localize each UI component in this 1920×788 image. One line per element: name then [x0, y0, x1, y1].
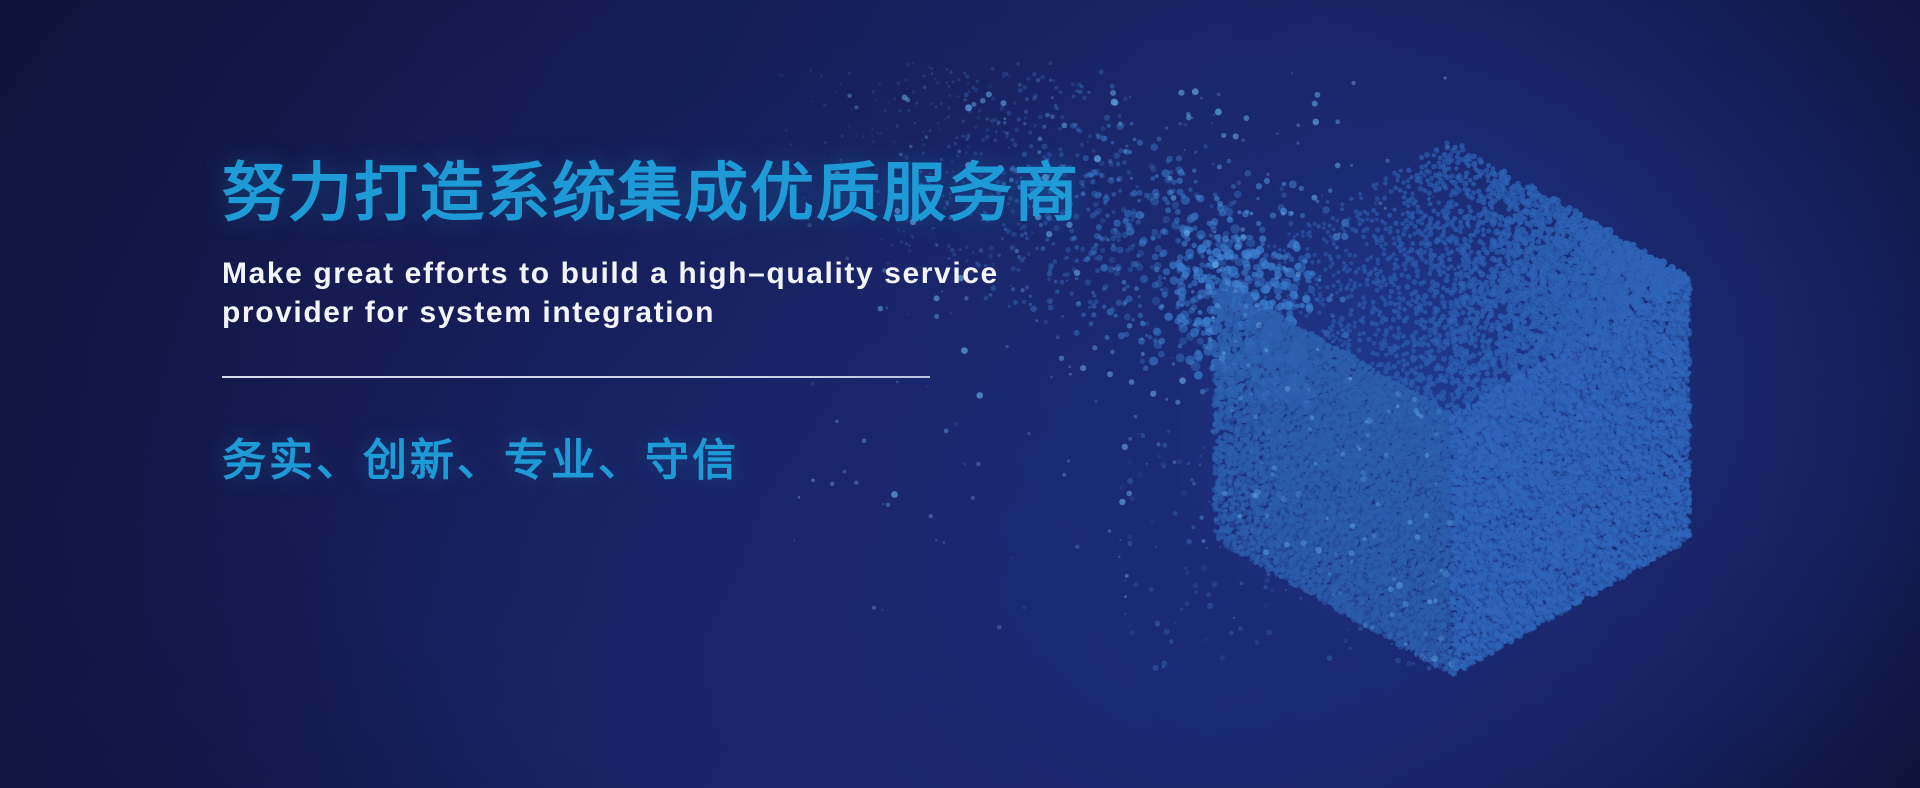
subtitle-line-2: provider for system integration	[222, 293, 1222, 332]
banner-content: 努力打造系统集成优质服务商 Make great efforts to buil…	[222, 160, 1222, 488]
subtitle-line-1: Make great efforts to build a high–quali…	[222, 254, 1222, 293]
tagline: 务实、创新、专业、守信	[222, 424, 1222, 488]
hero-banner: 努力打造系统集成优质服务商 Make great efforts to buil…	[0, 0, 1920, 788]
divider	[222, 376, 930, 378]
dotted-isometric-cube-graphic	[1152, 108, 1772, 708]
subtitle: Make great efforts to build a high–quali…	[222, 254, 1222, 332]
page-title: 努力打造系统集成优质服务商	[222, 160, 1222, 228]
